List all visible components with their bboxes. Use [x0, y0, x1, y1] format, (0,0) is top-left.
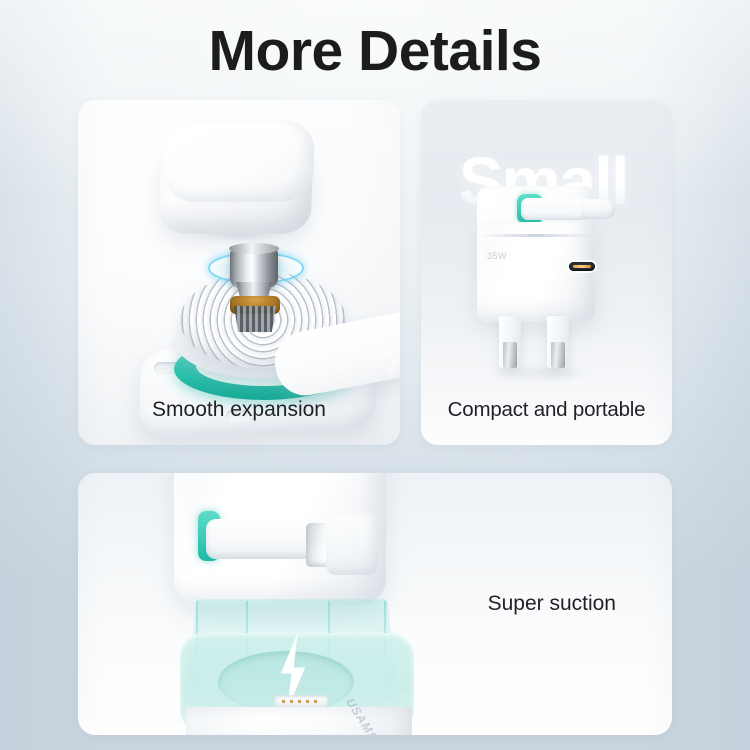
wattage-unit: W — [498, 251, 507, 261]
base-station-body — [186, 707, 412, 735]
product-detail-page: More Details Smooth expansio — [0, 0, 750, 750]
feature-card-compact-portable[interactable]: Small 35W Compact and portable — [421, 100, 672, 445]
feature-caption-super-suction: Super suction — [488, 591, 616, 617]
feature-caption-compact-portable: Compact and portable — [421, 397, 672, 423]
charger-seam-line — [479, 234, 593, 237]
plug-pin-left — [499, 316, 521, 368]
cable-body — [206, 519, 316, 559]
plug-pin-right — [547, 316, 569, 368]
feature-card-super-suction[interactable]: USAMS Super suction — [78, 473, 672, 735]
charger-main-body — [477, 222, 595, 322]
feature-card-smooth-expansion[interactable]: Smooth expansion — [78, 100, 400, 445]
feature-caption-smooth-expansion: Smooth expansion — [78, 397, 400, 423]
pogo-contact-pins — [274, 695, 328, 707]
connector-housing — [326, 513, 378, 575]
wattage-label: 35W — [487, 250, 507, 270]
foldout-arm-tip — [581, 199, 615, 219]
charger-drop-shadow — [467, 362, 617, 384]
wattage-value: 35 — [487, 251, 498, 261]
page-title: More Details — [0, 16, 750, 86]
connector-teeth — [234, 306, 276, 332]
usb-c-port — [569, 262, 595, 271]
compact-charger-illustration: 35W — [421, 100, 672, 445]
charger-cap-top — [163, 120, 316, 202]
smooth-expansion-illustration — [78, 100, 400, 445]
